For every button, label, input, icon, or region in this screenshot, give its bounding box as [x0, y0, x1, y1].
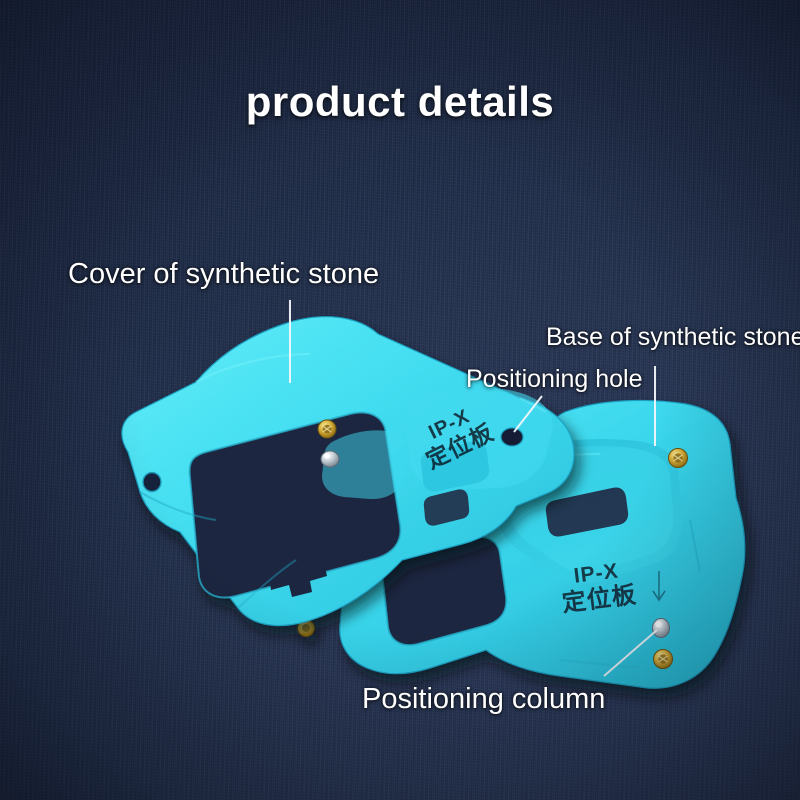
- callout-label-cover: Cover of synthetic stone: [68, 258, 379, 291]
- callout-label-positioning-column: Positioning column: [362, 683, 605, 716]
- callout-label-positioning-hole: Positioning hole: [466, 365, 643, 394]
- page-title: product details: [0, 78, 800, 126]
- product-detail-image: IP-X 定位板: [0, 0, 800, 800]
- callout-label-base: Base of synthetic stone: [546, 323, 800, 352]
